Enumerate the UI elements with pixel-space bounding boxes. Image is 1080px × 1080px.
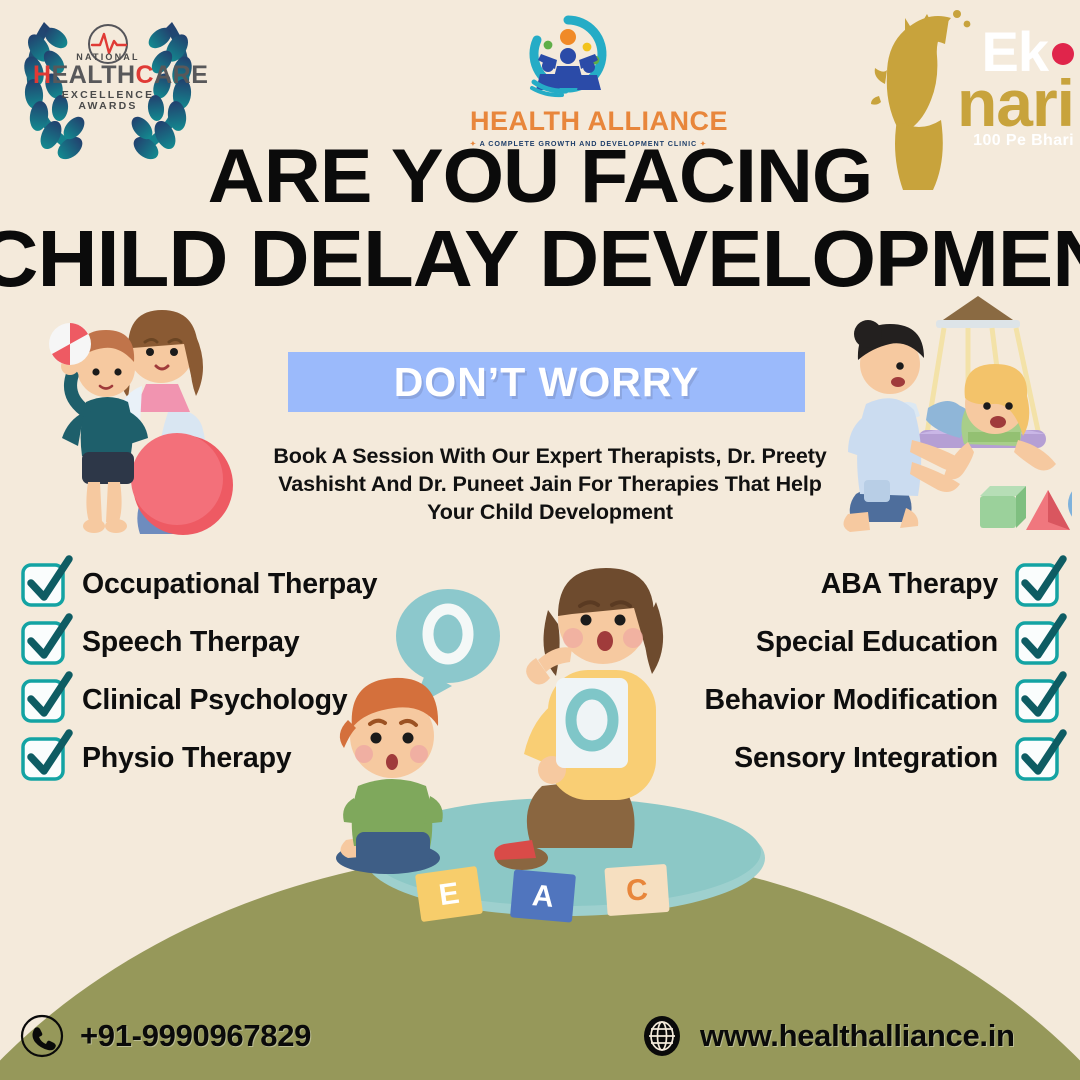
phone-icon xyxy=(20,1014,64,1058)
website-url: www.healthalliance.in xyxy=(700,1018,1015,1054)
service-item[interactable]: Clinical Psychology xyxy=(22,672,377,729)
letter-card-e: E xyxy=(415,866,483,922)
checkbox-checked-icon xyxy=(22,622,64,664)
checkbox-checked-icon xyxy=(22,564,64,606)
people-circle-icon xyxy=(508,14,628,99)
booking-blurb: Book A Session With Our Expert Therapist… xyxy=(255,443,845,527)
service-label: Speech Therpay xyxy=(82,626,299,659)
checkbox-checked-icon xyxy=(1016,564,1058,606)
award-line-healthcare: HEALTHCARE xyxy=(33,63,183,88)
services-list-right: ABA Therapy Special Education Behavior M… xyxy=(705,556,1059,788)
service-item[interactable]: Speech Therpay xyxy=(22,614,377,671)
phone-number: +91-9990967829 xyxy=(80,1018,311,1054)
checkbox-checked-icon xyxy=(22,738,64,780)
service-item[interactable]: ABA Therapy xyxy=(705,556,1059,613)
service-label: Physio Therapy xyxy=(82,742,291,775)
service-item[interactable]: Sensory Integration xyxy=(705,730,1059,787)
checkbox-checked-icon xyxy=(1016,622,1058,664)
services-list-left: Occupational Therpay Speech Therpay Clin… xyxy=(22,556,377,788)
poster-canvas: E A C xyxy=(0,0,1080,1080)
service-label: ABA Therapy xyxy=(821,568,998,601)
illustration-sensory-swing-therapy xyxy=(832,282,1072,544)
service-label: Special Education xyxy=(756,626,998,659)
service-item[interactable]: Behavior Modification xyxy=(705,672,1059,729)
service-label: Occupational Therpay xyxy=(82,568,377,601)
health-alliance-logo: HEALTH ALLIANCE ✦ A COMPLETE GROWTH AND … xyxy=(470,14,665,134)
letter-card-a: A xyxy=(510,869,576,922)
svg-text:A: A xyxy=(531,879,555,914)
dont-worry-banner: DON’T WORRY xyxy=(288,352,805,412)
dont-worry-text: DON’T WORRY xyxy=(394,359,700,406)
letter-card-c: C xyxy=(604,864,669,916)
checkbox-checked-icon xyxy=(1016,738,1058,780)
service-label: Clinical Psychology xyxy=(82,684,347,717)
checkbox-checked-icon xyxy=(1016,680,1058,722)
ek-nari-line2: nari xyxy=(957,76,1074,130)
service-item[interactable]: Special Education xyxy=(705,614,1059,671)
service-item[interactable]: Occupational Therpay xyxy=(22,556,377,613)
service-label: Sensory Integration xyxy=(734,742,998,775)
ek-nari-dot xyxy=(1052,43,1074,65)
headline-line-1: ARE YOU FACING xyxy=(0,140,1080,214)
headline: ARE YOU FACING CHILD DELAY DEVELOPMENT xyxy=(0,140,1080,297)
service-item[interactable]: Physio Therapy xyxy=(22,730,377,787)
award-line-excellence: EXCELLENCE AWARDS xyxy=(33,90,183,111)
service-label: Behavior Modification xyxy=(705,684,999,717)
svg-text:C: C xyxy=(625,873,649,907)
globe-icon xyxy=(640,1014,684,1058)
illustration-exercise-ball-therapy xyxy=(28,292,263,542)
health-alliance-name: HEALTH ALLIANCE xyxy=(470,106,665,137)
contact-phone[interactable]: +91-9990967829 xyxy=(20,1014,311,1058)
checkbox-checked-icon xyxy=(22,680,64,722)
contact-website[interactable]: www.healthalliance.in xyxy=(640,1014,1015,1058)
